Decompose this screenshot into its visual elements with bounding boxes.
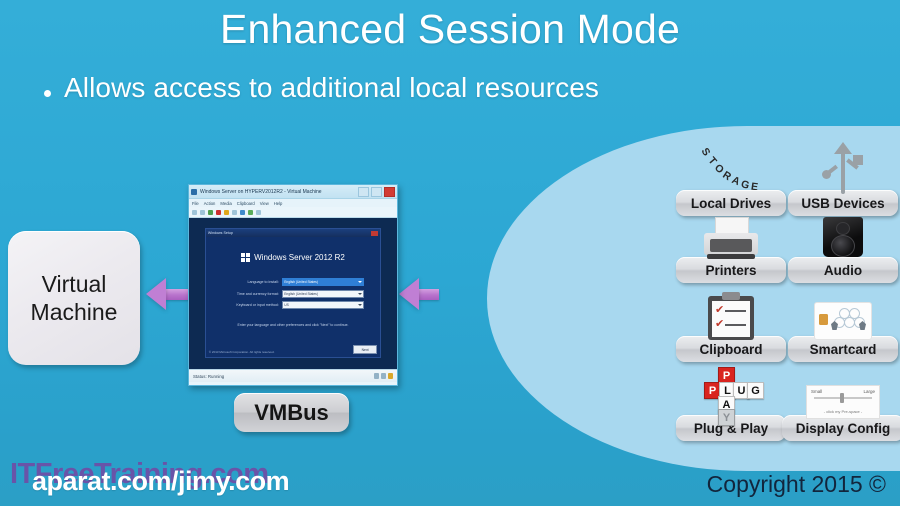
hyperv-icon — [191, 189, 197, 195]
keyboard-select-value: US — [284, 303, 289, 307]
setup-titlebar: Windows Setup — [206, 229, 380, 237]
status-icon-1 — [374, 373, 379, 379]
arrow-to-resources — [399, 283, 439, 305]
menu-item-clipboard[interactable]: Clipboard — [237, 201, 255, 206]
arrow-head-icon — [146, 278, 166, 310]
vm-menu-bar: File Action Media Clipboard View Help — [189, 199, 397, 207]
vm-toolbar — [189, 207, 397, 218]
slide-canvas: Enhanced Session Mode Allows access to a… — [0, 0, 900, 506]
display-slider-knob — [840, 393, 844, 403]
language-select[interactable]: English (United States) — [282, 278, 365, 286]
keyboard-select[interactable]: US — [282, 301, 365, 309]
menu-item-action[interactable]: Action — [204, 201, 216, 206]
pnp-tile: Y — [718, 409, 735, 426]
clipboard-icon: ✔ ✔ — [708, 292, 754, 340]
toolbar-icon-6[interactable] — [232, 210, 237, 215]
storage-label: S T O R A G E — [700, 142, 772, 190]
close-icon[interactable] — [384, 187, 395, 197]
virtual-machine-box: VirtualMachine — [8, 231, 140, 365]
resource-item-local-drives[interactable]: Local Drives — [676, 190, 786, 216]
display-slider-min-label: Small — [811, 389, 822, 394]
setup-product-name: Windows Server 2012 R2 — [254, 253, 345, 262]
display-config-icon: Small Large - click my Pre-space - — [806, 385, 880, 419]
setup-fields: Language to install: English (United Sta… — [222, 278, 365, 309]
lock-icon — [388, 373, 393, 379]
toolbar-icon-1[interactable] — [192, 210, 197, 215]
watermark-overlay: aparat.com/jimy.com — [32, 466, 289, 497]
menu-item-media[interactable]: Media — [220, 201, 231, 206]
field-label-time-format: Time and currency format: — [222, 292, 279, 296]
next-button[interactable]: Next — [353, 345, 377, 354]
windows-logo-icon — [241, 253, 250, 262]
audio-label: Audio — [824, 263, 862, 278]
status-icons — [374, 373, 393, 379]
toolbar-icon-7[interactable] — [240, 210, 245, 215]
chevron-down-icon — [358, 281, 362, 283]
arrow-head-icon — [399, 278, 419, 310]
display-config-label: Display Config — [796, 421, 891, 436]
resource-item-plug-and-play[interactable]: P P L U G A Y Plug & Play — [676, 415, 786, 441]
chevron-down-icon — [358, 293, 362, 295]
storage-char: S — [699, 146, 713, 158]
toolbar-icon-3[interactable] — [208, 210, 213, 215]
vm-window-titlebar: Windows Server on HYPERV2012R2 - Virtual… — [189, 185, 397, 199]
setup-window-title: Windows Setup — [208, 231, 233, 235]
resource-item-clipboard[interactable]: ✔ ✔ Clipboard — [676, 336, 786, 362]
clipboard-label: Clipboard — [700, 342, 763, 357]
resource-item-printers[interactable]: Printers — [676, 257, 786, 283]
toolbar-icon-8[interactable] — [248, 210, 253, 215]
smartcard-icon — [814, 302, 872, 340]
setup-field-row: Language to install: English (United Sta… — [222, 278, 365, 286]
bullet-text: Allows access to additional local resour… — [64, 72, 599, 104]
time-format-select[interactable]: English (United States) — [282, 290, 365, 298]
time-format-select-value: English (United States) — [284, 292, 318, 296]
chevron-down-icon — [358, 304, 362, 306]
vm-line1: Virtual — [42, 271, 107, 297]
usb-icon — [822, 142, 864, 194]
menu-item-view[interactable]: View — [260, 201, 269, 206]
vm-status-text: Status: Running — [193, 374, 224, 379]
local-drives-pill[interactable]: Local Drives — [676, 190, 786, 216]
display-slider-max-label: Large — [863, 389, 875, 394]
printer-icon — [704, 217, 758, 261]
menu-item-help[interactable]: Help — [274, 201, 283, 206]
pnp-tile: G — [747, 382, 764, 399]
bullet-row: Allows access to additional local resour… — [44, 72, 599, 104]
windows-logo-row: Windows Server 2012 R2 — [206, 253, 380, 262]
toolbar-icon-2[interactable] — [200, 210, 205, 215]
vmbus-label: VMBus — [254, 400, 329, 426]
resource-item-usb-devices[interactable]: USB Devices — [788, 190, 898, 216]
bullet-dot-icon — [44, 90, 51, 97]
display-slider-caption: - click my Pre-space - — [807, 409, 879, 414]
setup-hint: Enter your language and other preference… — [206, 323, 380, 327]
toolbar-icon-5[interactable] — [224, 210, 229, 215]
printers-label: Printers — [705, 263, 756, 278]
page-title: Enhanced Session Mode — [0, 6, 900, 53]
setup-legal: © 2013 Microsoft Corporation. All rights… — [209, 350, 275, 354]
vm-screen: Windows Setup Windows Server 2012 R2 Lan… — [189, 218, 397, 369]
maximize-icon[interactable] — [371, 187, 382, 197]
vm-line2: Machine — [31, 299, 118, 325]
vm-window-title: Windows Server on HYPERV2012R2 - Virtual… — [200, 189, 355, 195]
toolbar-icon-9[interactable] — [256, 210, 261, 215]
language-select-value: English (United States) — [284, 280, 318, 284]
vm-window-screenshot: Windows Server on HYPERV2012R2 - Virtual… — [188, 184, 398, 386]
minimize-icon[interactable] — [358, 187, 369, 197]
field-label-language: Language to install: — [222, 280, 279, 284]
toolbar-icon-4[interactable] — [216, 210, 221, 215]
smartcard-label: Smartcard — [810, 342, 877, 357]
vm-status-bar: Status: Running — [189, 369, 397, 382]
copyright-text: Copyright 2015 © — [707, 471, 886, 498]
virtual-machine-label: VirtualMachine — [31, 270, 118, 326]
setup-close-icon[interactable] — [371, 231, 378, 236]
vmbus-box: VMBus — [234, 393, 349, 432]
plug-and-play-icon: P P L U G A Y — [696, 367, 766, 419]
resource-item-display-config[interactable]: Small Large - click my Pre-space - Displ… — [782, 415, 900, 441]
speaker-icon — [820, 217, 866, 261]
setup-field-row: Time and currency format: English (Unite… — [222, 290, 365, 298]
usb-devices-label: USB Devices — [801, 196, 884, 211]
setup-field-row: Keyboard or input method: US — [222, 301, 365, 309]
windows-setup-dialog: Windows Setup Windows Server 2012 R2 Lan… — [205, 228, 381, 358]
arrow-to-virtual-machine — [146, 283, 194, 305]
vm-window-buttons — [358, 187, 395, 197]
menu-item-file[interactable]: File — [192, 201, 199, 206]
field-label-keyboard: Keyboard or input method: — [222, 303, 279, 307]
resource-item-smartcard[interactable]: Smartcard — [788, 336, 898, 362]
watermark: ITFreeTraining.com aparat.com/jimy.com — [10, 456, 330, 500]
setup-footer: © 2013 Microsoft Corporation. All rights… — [206, 345, 380, 357]
arrow-shaft — [419, 289, 439, 300]
resource-item-audio[interactable]: Audio — [788, 257, 898, 283]
status-icon-2 — [381, 373, 386, 379]
local-drives-label: Local Drives — [691, 196, 771, 211]
